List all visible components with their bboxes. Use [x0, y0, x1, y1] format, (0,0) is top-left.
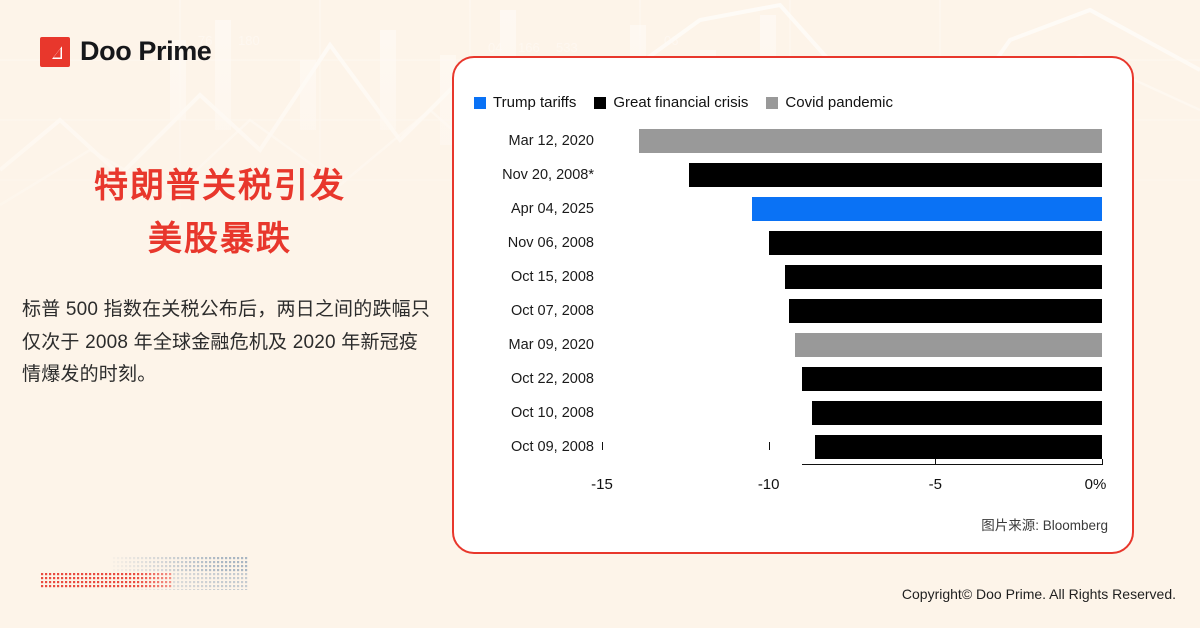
svg-text:166: 166	[518, 40, 540, 55]
headline-line-1: 特朗普关税引发	[0, 160, 440, 213]
chart-row: Oct 15, 2008	[454, 260, 1132, 294]
bar-track	[602, 260, 1102, 294]
bar-track	[602, 192, 1102, 226]
chart-bar	[689, 163, 1102, 187]
chart-bar	[802, 367, 1102, 391]
doo-prime-logo-icon	[40, 37, 70, 67]
svg-text:04: 04	[488, 40, 502, 55]
chart-row: Nov 20, 2008*	[454, 158, 1132, 192]
chart-bar	[812, 401, 1102, 425]
chart-source-note: 图片来源: Bloomberg	[981, 514, 1108, 534]
summary-paragraph: 标普 500 指数在关税公布后，两日之间的跌幅只仅次于 2008 年全球金融危机…	[22, 294, 434, 392]
x-axis-tick-label: -10	[758, 476, 780, 493]
legend-swatch-icon	[766, 97, 778, 109]
x-axis-tick-mark	[769, 442, 770, 450]
chart-row: Apr 04, 2025	[454, 192, 1132, 226]
bar-chart-plot-area: Mar 12, 2020Nov 20, 2008*Apr 04, 2025Nov…	[454, 124, 1132, 464]
chart-row-label: Nov 06, 2008	[454, 235, 594, 251]
chart-legend: Trump tariffs Great financial crisis Cov…	[474, 94, 893, 111]
legend-item: Covid pandemic	[766, 94, 893, 111]
chart-row: Oct 07, 2008	[454, 294, 1132, 328]
chart-row-label: Nov 20, 2008*	[454, 167, 594, 183]
chart-row-label: Mar 09, 2020	[454, 337, 594, 353]
svg-text:533: 533	[556, 40, 578, 55]
left-content-column: Doo Prime 特朗普关税引发 美股暴跌 标普 500 指数在关税公布后，两…	[0, 0, 440, 628]
chart-row-label: Oct 22, 2008	[454, 371, 594, 387]
x-axis: -15-10-50%	[602, 464, 1102, 514]
x-axis-tick-label: 0%	[1085, 476, 1107, 493]
chart-row-label: Oct 09, 2008	[454, 439, 594, 455]
x-axis-tick-label: -15	[591, 476, 613, 493]
chart-bar	[639, 129, 1102, 153]
legend-label: Covid pandemic	[785, 94, 893, 111]
chart-card: Trump tariffs Great financial crisis Cov…	[452, 56, 1134, 554]
bar-track	[602, 226, 1102, 260]
legend-swatch-icon	[474, 97, 486, 109]
chart-row-label: Apr 04, 2025	[454, 201, 594, 217]
bar-track	[602, 396, 1102, 430]
bar-track	[602, 158, 1102, 192]
legend-label: Great financial crisis	[613, 94, 748, 111]
chart-bar	[815, 435, 1102, 459]
copyright-notice: Copyright© Doo Prime. All Rights Reserve…	[902, 586, 1176, 602]
decorative-halftone-dots	[40, 556, 250, 590]
legend-swatch-icon	[594, 97, 606, 109]
legend-label: Trump tariffs	[493, 94, 576, 111]
bar-track	[602, 430, 1102, 464]
chart-row-label: Oct 15, 2008	[454, 269, 594, 285]
chart-row-label: Mar 12, 2020	[454, 133, 594, 149]
chart-bar	[795, 333, 1102, 357]
bar-track	[602, 328, 1102, 362]
legend-item: Great financial crisis	[594, 94, 748, 111]
chart-row: Mar 09, 2020	[454, 328, 1132, 362]
chart-row: Mar 12, 2020	[454, 124, 1132, 158]
chart-bar	[769, 231, 1102, 255]
headline: 特朗普关税引发 美股暴跌	[0, 160, 440, 265]
chart-bar	[752, 197, 1102, 221]
chart-row-label: Oct 10, 2008	[454, 405, 594, 421]
chart-row: Oct 22, 2008	[454, 362, 1132, 396]
svg-text:06: 06	[664, 33, 678, 48]
x-axis-tick-mark	[935, 459, 936, 465]
x-axis-tick-mark	[1102, 459, 1103, 465]
chart-row: Nov 06, 2008	[454, 226, 1132, 260]
chart-bar	[785, 265, 1102, 289]
chart-row-label: Oct 07, 2008	[454, 303, 594, 319]
x-axis-line	[802, 464, 1102, 465]
bar-track	[602, 124, 1102, 158]
bar-track	[602, 294, 1102, 328]
chart-bar	[789, 299, 1102, 323]
chart-row: Oct 09, 2008	[454, 430, 1132, 464]
headline-line-2: 美股暴跌	[0, 213, 440, 266]
x-axis-tick-label: -5	[929, 476, 942, 493]
brand-lockup: Doo Prime	[40, 36, 211, 67]
chart-row: Oct 10, 2008	[454, 396, 1132, 430]
brand-name: Doo Prime	[80, 36, 211, 67]
legend-item: Trump tariffs	[474, 94, 576, 111]
x-axis-tick-mark	[602, 442, 603, 450]
bar-track	[602, 362, 1102, 396]
